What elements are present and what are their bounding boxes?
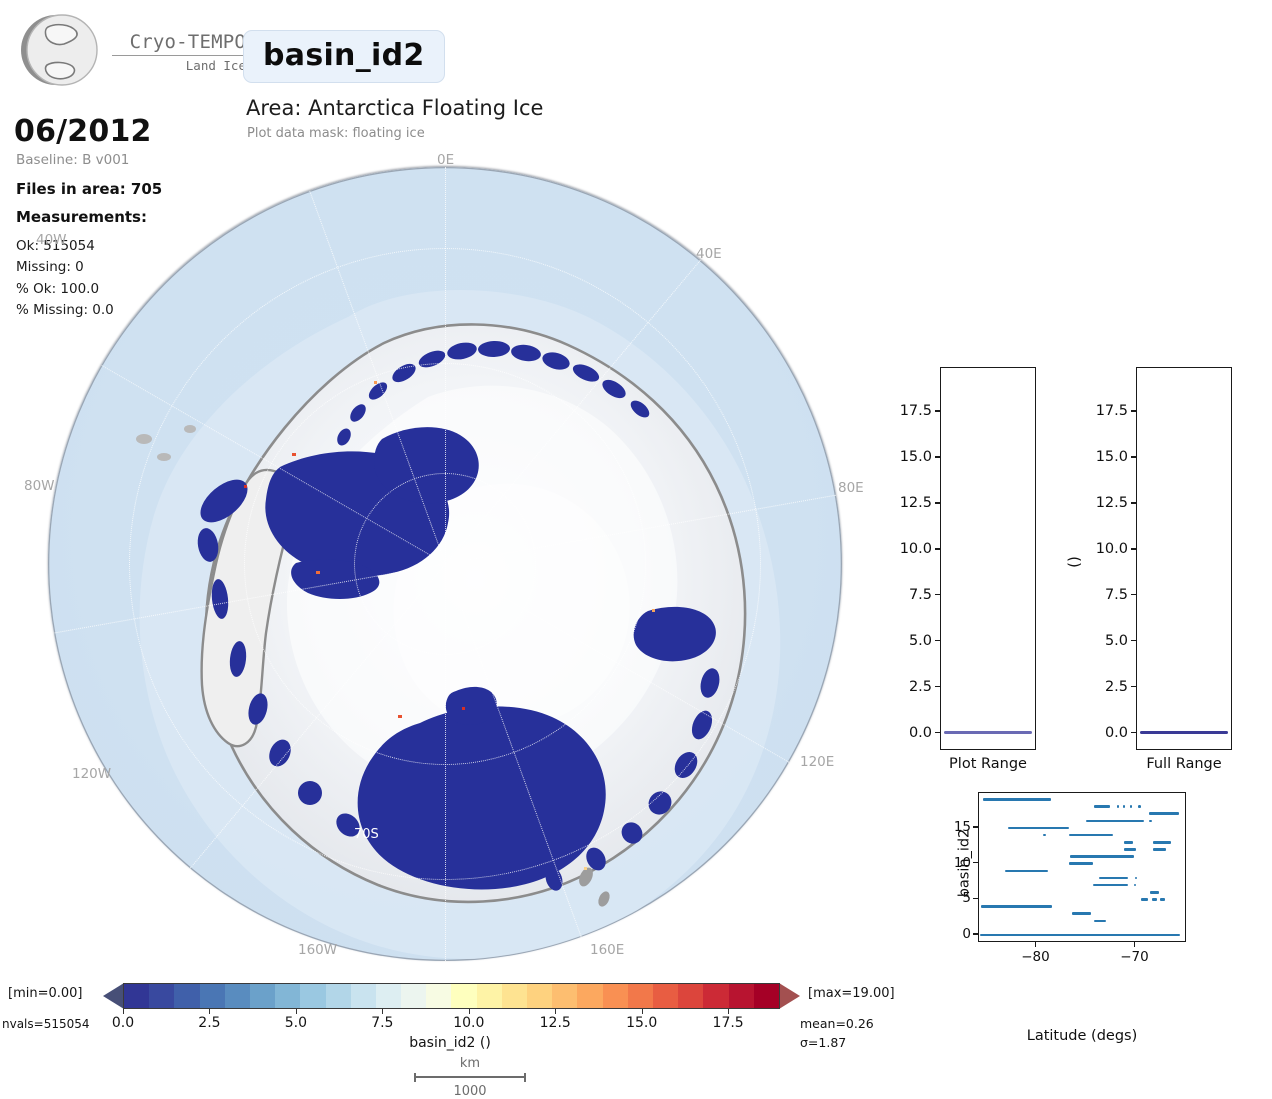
scalebar-bar	[414, 1073, 526, 1082]
basin-vs-latitude-scatter[interactable]: 051015−80−70	[978, 792, 1186, 942]
colorbar-swatch-6	[275, 984, 300, 1008]
boxplot-0-ytick-label-1: 2.5	[909, 679, 932, 695]
scatter-point-group	[1123, 805, 1126, 808]
colorbar-tick-label-7: 17.5	[713, 1015, 744, 1031]
scatter-point-group	[981, 905, 1052, 908]
boxplot-0-ytick-label-2: 5.0	[909, 633, 932, 649]
colorbar-tick-5	[555, 1009, 556, 1014]
boxplot-1-ytick-label-0: 0.0	[1105, 725, 1128, 741]
colorbar-tick-label-5: 12.5	[540, 1015, 571, 1031]
colorbar-swatch-14	[477, 984, 502, 1008]
colorbar-tick-label-4: 10.0	[453, 1015, 484, 1031]
plot-range-frame[interactable]	[940, 367, 1036, 750]
colorbar-under-arrow	[103, 983, 124, 1009]
scatter-xtick-0	[1035, 942, 1036, 947]
scatter-point-group	[1069, 862, 1093, 865]
colorbar-tick-label-6: 15.0	[626, 1015, 657, 1031]
scatter-x-axis-label: Latitude (degs)	[978, 1028, 1186, 1044]
scatter-point-group	[1130, 805, 1133, 808]
colorbar-mean: mean=0.26	[800, 1016, 874, 1031]
boxplot-0-ytick-0	[935, 732, 940, 733]
full-range-panel[interactable]: Full Range 0.02.55.07.510.012.515.017.5	[1136, 367, 1232, 750]
boxplot-0-ytick-label-0: 0.0	[909, 725, 932, 741]
boxplot-0-ytick-2	[935, 640, 940, 641]
boxplot-1-ytick-label-7: 17.5	[1096, 403, 1128, 419]
colorbar-swatch-11	[401, 984, 426, 1008]
boxplot-1-ytick-label-2: 5.0	[1105, 633, 1128, 649]
colorbar-swatch-2	[174, 984, 199, 1008]
colorbar-tick-1	[209, 1009, 210, 1014]
boxplot-1-ytick-4	[1131, 548, 1136, 549]
colorbar-swatch-8	[326, 984, 351, 1008]
scatter-point-group	[983, 798, 1051, 801]
colorbar-swatch-3	[200, 984, 225, 1008]
boxplot-0-ytick-1	[935, 686, 940, 687]
lon-label-160e: 160E	[590, 942, 624, 958]
colorbar-swatch-9	[351, 984, 376, 1008]
boxplot-1-ytick-1	[1131, 686, 1136, 687]
colorbar-tick-label-2: 5.0	[285, 1015, 307, 1031]
scatter-point-group	[1149, 812, 1179, 815]
colorbar-tick-label-1: 2.5	[198, 1015, 220, 1031]
scatter-ytick-2	[973, 862, 978, 863]
mask-subtitle: Plot data mask: floating ice	[247, 126, 425, 141]
lon-label-40e: 40E	[696, 246, 722, 262]
colorbar-swatch-20	[628, 984, 653, 1008]
boxplot-1-ytick-3	[1131, 594, 1136, 595]
plot-range-panel[interactable]: Plot Range 0.02.55.07.510.012.515.017.5	[940, 367, 1036, 750]
boxplot-1-ytick-label-5: 12.5	[1096, 495, 1128, 511]
boxplot-0-ytick-4	[935, 548, 940, 549]
scatter-point-group	[1005, 870, 1049, 873]
date-label: 06/2012	[14, 114, 152, 149]
scatter-ytick-3	[973, 826, 978, 827]
lon-label-0e: 0E	[437, 152, 454, 168]
scatter-ytick-1	[973, 898, 978, 899]
colorbar-swatch-1	[149, 984, 174, 1008]
boxplot-0-median-line	[944, 731, 1032, 734]
colorbar-swatch-15	[502, 984, 527, 1008]
colorbar-over-arrow	[779, 983, 800, 1009]
boxplot-0-ytick-label-7: 17.5	[900, 403, 932, 419]
scatter-point-group	[1160, 898, 1165, 901]
colorbar-tick-4	[469, 1009, 470, 1014]
colorbar-tick-6	[642, 1009, 643, 1014]
scatter-point-group	[1134, 884, 1137, 887]
colorbar-swatch-24	[729, 984, 754, 1008]
scatter-point-group	[1070, 855, 1134, 858]
colorbar-max-label: [max=19.00]	[808, 986, 895, 1001]
colorbar-swatch-18	[577, 984, 602, 1008]
scatter-point-group	[1150, 891, 1159, 894]
lon-label-160w: 160W	[298, 942, 337, 958]
colorbar-tick-label-0: 0.0	[112, 1015, 134, 1031]
plot-range-caption: Plot Range	[940, 756, 1036, 772]
boxplot-1-median-line	[1140, 731, 1228, 734]
boxplot-1-ytick-6	[1131, 456, 1136, 457]
logo-title: Cryo-TEMPO	[106, 32, 246, 52]
colorbar-tick-label-3: 7.5	[371, 1015, 393, 1031]
scatter-xtick-label-0: −80	[1021, 949, 1050, 965]
scatter-point-group	[1117, 805, 1120, 808]
scatter-point-group	[1069, 834, 1113, 837]
colorbar-swatch-21	[653, 984, 678, 1008]
scatter-point-group	[1138, 805, 1141, 808]
full-range-y-axis-label: ()	[1065, 556, 1083, 568]
colorbar-tick-3	[382, 1009, 383, 1014]
scatter-y-axis-label: basin_id2	[956, 829, 972, 898]
boxplot-1-ytick-7	[1131, 410, 1136, 411]
lat-label-70s: 70S	[354, 827, 379, 842]
boxplot-0-ytick-3	[935, 594, 940, 595]
parallel-60s	[129, 248, 761, 880]
colorbar-swatch-5	[250, 984, 275, 1008]
map-scalebar: km 1000	[414, 1056, 526, 1099]
lon-label-80e: 80E	[838, 480, 864, 496]
area-title: Area: Antarctica Floating Ice	[246, 96, 543, 120]
scatter-point-group	[1153, 841, 1171, 844]
scatter-point-group	[1099, 877, 1128, 880]
scatter-point-group	[1149, 820, 1152, 823]
colorbar-swatch-4	[225, 984, 250, 1008]
colorbar-nvals: nvals=515054	[2, 1017, 90, 1031]
boxplot-1-ytick-2	[1131, 640, 1136, 641]
colorbar-swatch-7	[300, 984, 325, 1008]
scatter-point-group	[1153, 848, 1166, 851]
colorbar-tick-2	[296, 1009, 297, 1014]
colorbar: [min=0.00] [max=19.00] nvals=515054 mean…	[0, 975, 900, 1060]
antarctica-map[interactable]: 70S 0E 40E 80E 120E 160E 160W 120W 80W 4…	[46, 160, 850, 964]
colorbar-gradient-strip[interactable]	[123, 983, 780, 1009]
lon-label-120w: 120W	[72, 766, 111, 782]
lon-label-40w: 40W	[36, 232, 67, 248]
logo-divider	[112, 55, 246, 56]
scatter-xtick-label-1: −70	[1120, 949, 1149, 965]
full-range-caption: Full Range	[1136, 756, 1232, 772]
colorbar-swatch-12	[426, 984, 451, 1008]
boxplot-0-ytick-label-4: 10.0	[900, 541, 932, 557]
lon-label-120e: 120E	[800, 754, 834, 770]
colorbar-swatch-16	[527, 984, 552, 1008]
colorbar-swatch-19	[603, 984, 628, 1008]
scalebar-value: 1000	[414, 1084, 526, 1099]
scatter-point-group	[980, 934, 1180, 937]
scatter-point-group	[1135, 877, 1138, 880]
boxplot-0-ytick-label-3: 7.5	[909, 587, 932, 603]
colorbar-swatch-0	[124, 984, 149, 1008]
scatter-point-group	[1008, 827, 1069, 830]
scatter-point-group	[1152, 898, 1157, 901]
variable-badge[interactable]: basin_id2	[243, 30, 445, 83]
boxplot-0-ytick-5	[935, 502, 940, 503]
scatter-point-group	[1124, 848, 1137, 851]
colorbar-swatch-10	[376, 984, 401, 1008]
colorbar-min-label: [min=0.00]	[8, 986, 83, 1001]
scatter-point-group	[1124, 841, 1133, 844]
colorbar-swatch-13	[451, 984, 476, 1008]
scatter-point-group	[1086, 820, 1144, 823]
boxplot-0-ytick-7	[935, 410, 940, 411]
scatter-xtick-1	[1134, 942, 1135, 947]
colorbar-swatch-17	[552, 984, 577, 1008]
scatter-ytick-0	[973, 933, 978, 934]
scatter-point-group	[1043, 834, 1046, 837]
full-range-frame[interactable]	[1136, 367, 1232, 750]
colorbar-swatch-23	[703, 984, 728, 1008]
colorbar-tick-0	[123, 1009, 124, 1014]
boxplot-1-ytick-5	[1131, 502, 1136, 503]
boxplot-1-ytick-label-6: 15.0	[1096, 449, 1128, 465]
colorbar-swatch-22	[678, 984, 703, 1008]
colorbar-axis-label: basin_id2 ()	[0, 1035, 900, 1051]
boxplot-1-ytick-label-4: 10.0	[1096, 541, 1128, 557]
boxplot-0-ytick-label-5: 12.5	[900, 495, 932, 511]
boxplot-0-ytick-6	[935, 456, 940, 457]
boxplot-0-ytick-label-6: 15.0	[900, 449, 932, 465]
colorbar-tick-7	[728, 1009, 729, 1014]
lon-label-80w: 80W	[24, 478, 55, 494]
boxplot-1-ytick-label-1: 2.5	[1105, 679, 1128, 695]
colorbar-scale[interactable]: 0.02.55.07.510.012.515.017.5	[103, 979, 800, 1013]
logo-subtitle: Land Ice	[106, 58, 246, 73]
logo-wordmark: Cryo-TEMPO Land Ice	[106, 32, 246, 73]
scatter-point-group	[1072, 912, 1091, 915]
app-logo: Cryo-TEMPO Land Ice	[14, 6, 244, 98]
colorbar-swatch-25	[754, 984, 779, 1008]
globe-icon	[14, 6, 102, 94]
map-disc[interactable]: 70S	[48, 167, 842, 961]
scatter-ytick-label-0: 0	[962, 926, 971, 942]
scatter-point-group	[1094, 920, 1106, 923]
scatter-point-group	[1141, 898, 1148, 901]
scatter-point-group	[1093, 884, 1128, 887]
boxplot-1-ytick-0	[1131, 732, 1136, 733]
boxplot-1-ytick-label-3: 7.5	[1105, 587, 1128, 603]
scatter-plot-frame[interactable]	[978, 792, 1186, 942]
scatter-point-group	[1094, 805, 1110, 808]
